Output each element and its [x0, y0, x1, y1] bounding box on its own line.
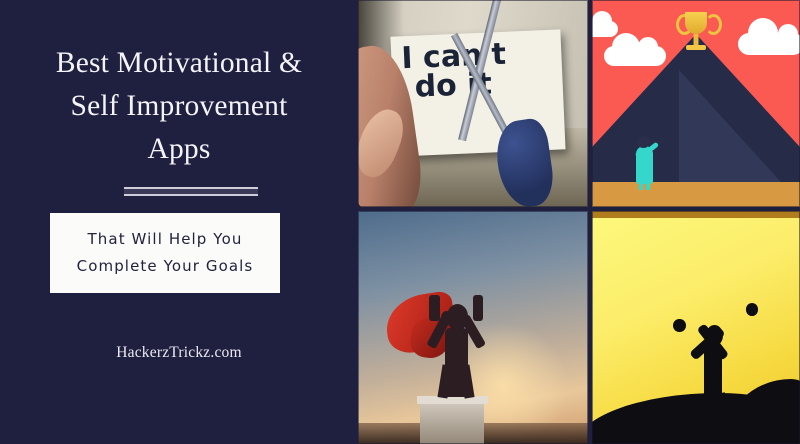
subtitle-line-1: That Will Help You: [88, 226, 243, 253]
silhouette-head: [706, 325, 723, 346]
title-divider-rule: [124, 187, 258, 196]
child-forearm-left: [429, 295, 439, 321]
child-forearm-right: [473, 295, 483, 321]
trophy-handle-right: [705, 14, 722, 35]
victory-silhouette-scene: [592, 211, 800, 444]
i-cant-do-it-scene: I can't do it: [358, 0, 588, 207]
site-credit: HackerzTrickz.com: [8, 344, 350, 362]
photo-cell-victory-silhouette: [592, 211, 800, 444]
headline-line-3: Apps: [8, 128, 350, 171]
trophy-icon-cup: [685, 12, 707, 34]
figure-leg-left: [639, 176, 643, 190]
headline-line-1: Best Motivational &: [8, 42, 350, 85]
photo-cell-caped-child: [358, 211, 588, 444]
mountain-trophy-scene: [592, 0, 800, 207]
pedestal-column: [420, 404, 484, 444]
headline-line-2: Self Improvement: [8, 85, 350, 128]
mountain-highlight-face: [679, 70, 781, 182]
subtitle-box: That Will Help You Complete Your Goals: [50, 213, 280, 293]
photo-cell-i-cant-do-it: I can't do it: [358, 0, 588, 207]
page-title: Best Motivational & Self Improvement App…: [8, 42, 350, 171]
silhouette-torso: [704, 344, 722, 400]
text-panel: Best Motivational & Self Improvement App…: [0, 0, 358, 444]
top-border-band: [592, 211, 800, 218]
trophy-icon-stem: [694, 34, 699, 45]
hill-right-mound: [721, 379, 800, 444]
silhouette-fist-right: [746, 303, 758, 316]
figure-head: [637, 136, 650, 148]
poster-canvas: Best Motivational & Self Improvement App…: [0, 0, 800, 444]
ground-plane: [592, 182, 800, 207]
child-head: [447, 304, 469, 330]
subtitle-line-2: Complete Your Goals: [77, 253, 254, 280]
caped-child-scene: [358, 211, 588, 444]
child-torso: [445, 328, 468, 398]
photo-grid: I can't do it: [358, 0, 800, 444]
figure-leg-right: [646, 176, 650, 190]
silhouette-fist-left: [673, 319, 685, 332]
trophy-icon-base: [686, 45, 706, 50]
pedestal-cap: [417, 396, 488, 404]
photo-cell-mountain-trophy: [592, 0, 800, 207]
